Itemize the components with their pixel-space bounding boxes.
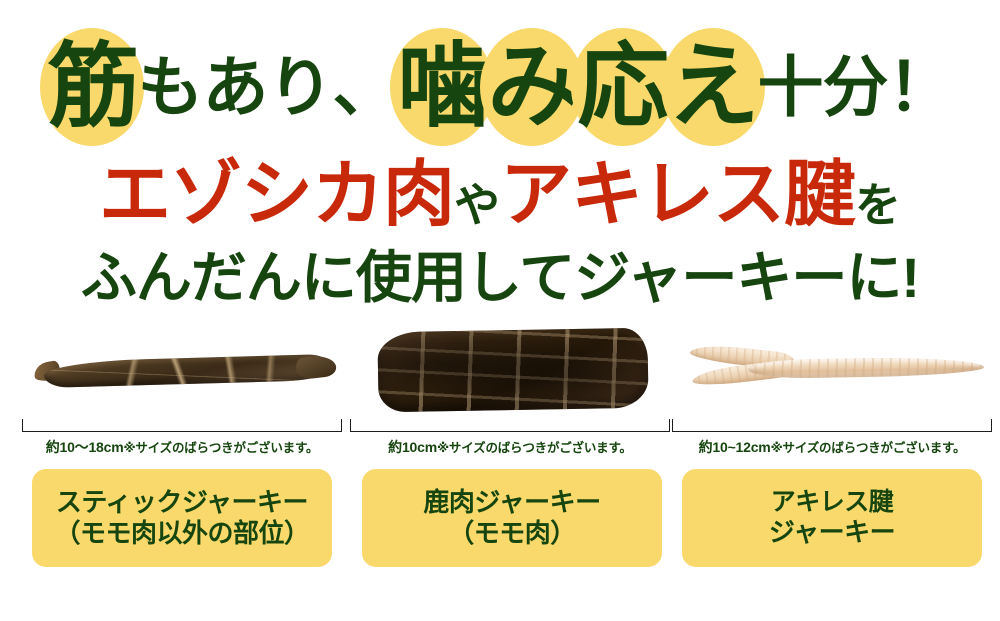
product-label-venison-jerky[interactable]: 鹿肉ジャーキー （モモ肉） [362, 469, 662, 567]
headline-char-5: 噛 [397, 41, 487, 133]
measure-line [350, 431, 670, 432]
headline-char-3: り [267, 54, 332, 120]
headline-char-0: 筋 [47, 41, 137, 133]
product-column-achilles-tendon: 約10~12cm※サイズのばらつきがございます。 アキレス腱 ジャーキー [672, 320, 992, 620]
headline-secondary-segment-1: エゾシカ肉 [99, 159, 454, 231]
size-caption: 約10~12cm※サイズのばらつきがございます。 [672, 437, 992, 457]
stick-jerky-photo [22, 320, 342, 414]
product-label-line-1: スティックジャーキー [56, 487, 308, 518]
size-note: ※サイズのばらつきがございます。 [771, 441, 966, 455]
headline-char-7: 応 [578, 41, 668, 133]
headline-primary: 筋もあり、噛み応え十分！ [0, 28, 1000, 146]
product-label-line-1: アキレス腱 [771, 488, 894, 518]
measure-bracket [672, 416, 992, 432]
size-value: 約10~12cm [699, 439, 771, 455]
measure-line [672, 431, 992, 432]
stick-jerky-body [44, 354, 329, 388]
measure-tick-right [991, 419, 992, 432]
headline-char-8: え [668, 41, 758, 133]
product-label-line-1: 鹿肉ジャーキー [423, 487, 600, 518]
stick-jerky-tail [295, 354, 337, 381]
headline-char-2: あ [202, 54, 267, 120]
headline-char-10: 分 [823, 54, 888, 120]
venison-jerky-shape [378, 330, 648, 410]
headline-secondary-segment-2: アキレス腱 [500, 159, 855, 231]
product-label-achilles-tendon[interactable]: アキレス腱 ジャーキー [682, 469, 982, 567]
product-row: 約10〜18cm※サイズのばらつきがございます。 スティックジャーキー （モモ肉… [0, 320, 1000, 620]
size-value: 約10〜18cm [46, 439, 124, 455]
product-column-venison-jerky: 約10cm※サイズのばらつきがございます。 鹿肉ジャーキー （モモ肉） [350, 320, 670, 620]
size-value: 約10cm [388, 439, 437, 455]
size-caption: 約10〜18cm※サイズのばらつきがございます。 [22, 437, 342, 457]
size-caption: 約10cm※サイズのばらつきがございます。 [350, 437, 670, 457]
venison-jerky-photo [350, 320, 670, 414]
headline-char-9: 十 [758, 54, 823, 120]
measure-bracket [350, 416, 670, 432]
size-note: ※サイズのばらつきがございます。 [123, 441, 318, 455]
achilles-tendon-shape [690, 344, 982, 390]
measure-tick-right [341, 419, 342, 432]
product-label-stick-jerky[interactable]: スティックジャーキー （モモ肉以外の部位） [32, 469, 332, 567]
headline-char-4: 、 [332, 54, 397, 120]
measure-line [22, 431, 342, 432]
headline-char-11: ！ [888, 54, 953, 120]
measure-bracket [22, 416, 342, 432]
product-label-line-2: （モモ肉以外の部位） [54, 518, 309, 549]
measure-tick-right [669, 419, 670, 432]
promo-banner: 筋もあり、噛み応え十分！ エゾシカ肉 や アキレス腱 を ふんだんに使用してジャ… [0, 0, 1000, 621]
headline-primary-chars: 筋もあり、噛み応え十分！ [47, 41, 952, 133]
product-label-line-2: （モモ肉） [448, 518, 576, 549]
size-note: ※サイズのばらつきがございます。 [437, 441, 632, 455]
headline-char-6: み [487, 41, 577, 133]
headline-secondary: エゾシカ肉 や アキレス腱 を [0, 152, 1000, 238]
product-label-line-2: ジャーキー [769, 517, 895, 548]
achilles-tendon-shaft [748, 356, 984, 379]
headline-tertiary: ふんだんに使用してジャーキーに! [0, 240, 1000, 306]
product-column-stick-jerky: 約10〜18cm※サイズのばらつきがございます。 スティックジャーキー （モモ肉… [22, 320, 342, 620]
stick-jerky-shape [44, 350, 328, 390]
headline-secondary-particle-2: を [855, 182, 901, 228]
headline-secondary-particle-1: や [454, 182, 500, 228]
headline-char-1: も [137, 54, 202, 120]
achilles-tendon-jerky-photo [672, 320, 992, 414]
venison-jerky-body [377, 328, 648, 413]
